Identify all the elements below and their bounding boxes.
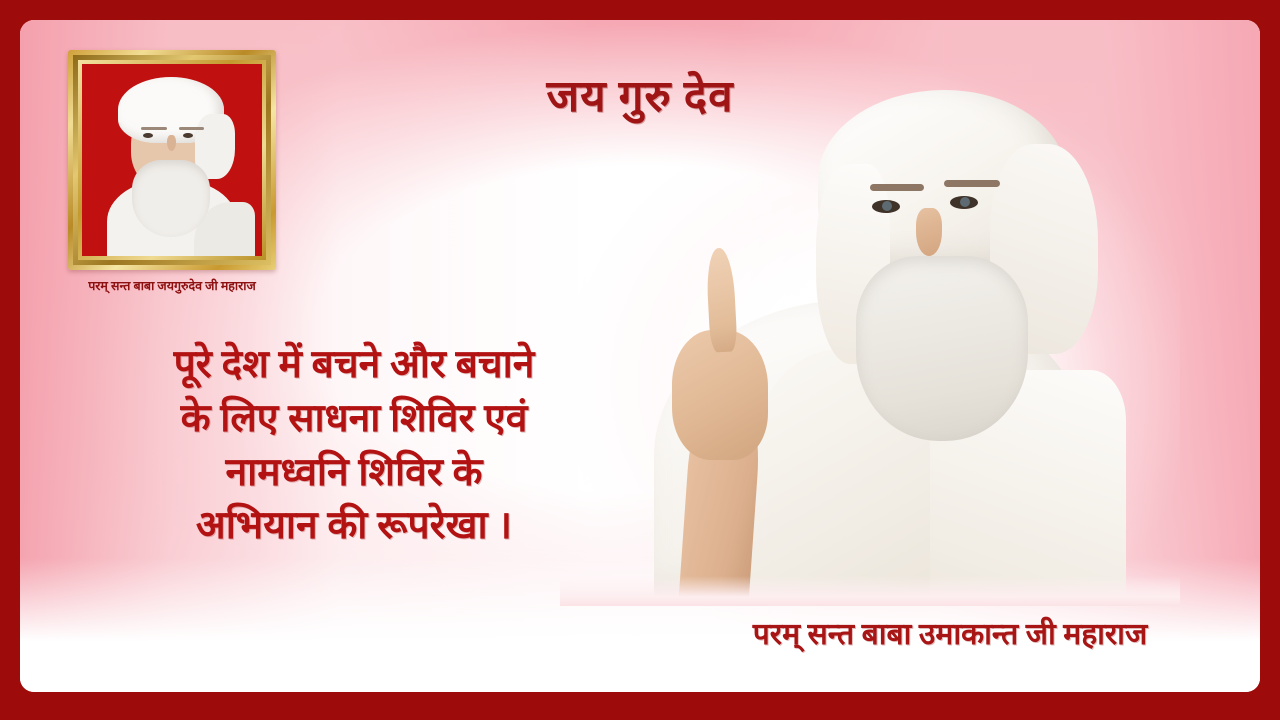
figure-brow-left (870, 184, 924, 191)
portrait-nose (167, 135, 176, 151)
figure-bottom-fade (560, 576, 1180, 606)
figure-nose (916, 208, 942, 256)
figure-beard (856, 256, 1028, 441)
portrait-brow-left (141, 127, 166, 130)
figure-brow-right (944, 180, 1000, 187)
poster-root: जय गुरु देव (0, 0, 1280, 720)
portrait-frame-inner (78, 60, 266, 260)
framed-portrait: परम् सन्त बाबा जयगुरुदेव जी महाराज (68, 50, 276, 294)
main-figure-photo (620, 80, 1120, 600)
figure-iris-right (960, 197, 970, 207)
portrait-brow-right (179, 127, 204, 130)
figure-iris-left (882, 201, 892, 211)
main-figure-caption: परम् सन्त बाबा उमाकान्त जी महाराज (640, 612, 1260, 653)
portrait-caption: परम् सन्त बाबा जयगुरुदेव जी महाराज (68, 277, 276, 294)
portrait-frame-outer (68, 50, 276, 270)
poster-card: जय गुरु देव (20, 20, 1260, 692)
portrait-beard (132, 160, 209, 237)
portrait-frame-middle (73, 55, 271, 265)
portrait-eye-right (183, 133, 193, 138)
portrait-photo (82, 64, 262, 256)
